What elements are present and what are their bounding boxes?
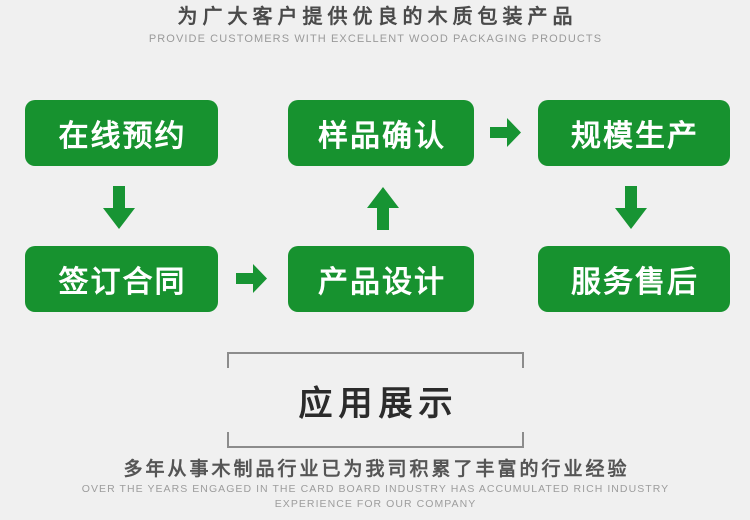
arrow-up-icon	[365, 186, 401, 230]
page-title-cn: 为广大客户提供优良的木质包装产品	[0, 4, 750, 30]
infographic-canvas: 为广大客户提供优良的木质包装产品 PROVIDE CUSTOMERS WITH …	[0, 0, 750, 520]
page-header: 为广大客户提供优良的木质包装产品 PROVIDE CUSTOMERS WITH …	[0, 4, 750, 47]
flow-step-online-booking[interactable]: 在线预约	[25, 100, 218, 166]
showcase-bracket-frame: 应用展示	[227, 352, 524, 448]
flow-step-after-sales-service[interactable]: 服务售后	[538, 246, 730, 312]
page-subtitle-en: PROVIDE CUSTOMERS WITH EXCELLENT WOOD PA…	[0, 31, 750, 47]
footer-text-en-line2: EXPERIENCE FOR OUR COMPANY	[0, 497, 750, 512]
showcase-title: 应用展示	[227, 352, 524, 448]
flow-step-sample-confirmation[interactable]: 样品确认	[288, 100, 474, 166]
flow-step-mass-production[interactable]: 规模生产	[538, 100, 730, 166]
arrow-right-icon	[490, 118, 521, 147]
flow-step-sign-contract[interactable]: 签订合同	[25, 246, 218, 312]
footer-text-cn: 多年从事木制品行业已为我司积累了丰富的行业经验	[0, 457, 750, 482]
arrow-right-icon	[236, 264, 267, 293]
page-footer: 多年从事木制品行业已为我司积累了丰富的行业经验 OVER THE YEARS E…	[0, 457, 750, 512]
flow-step-product-design[interactable]: 产品设计	[288, 246, 474, 312]
footer-text-en-line1: OVER THE YEARS ENGAGED IN THE CARD BOARD…	[0, 482, 750, 497]
arrow-down-icon	[613, 186, 649, 230]
arrow-down-icon	[101, 186, 137, 230]
